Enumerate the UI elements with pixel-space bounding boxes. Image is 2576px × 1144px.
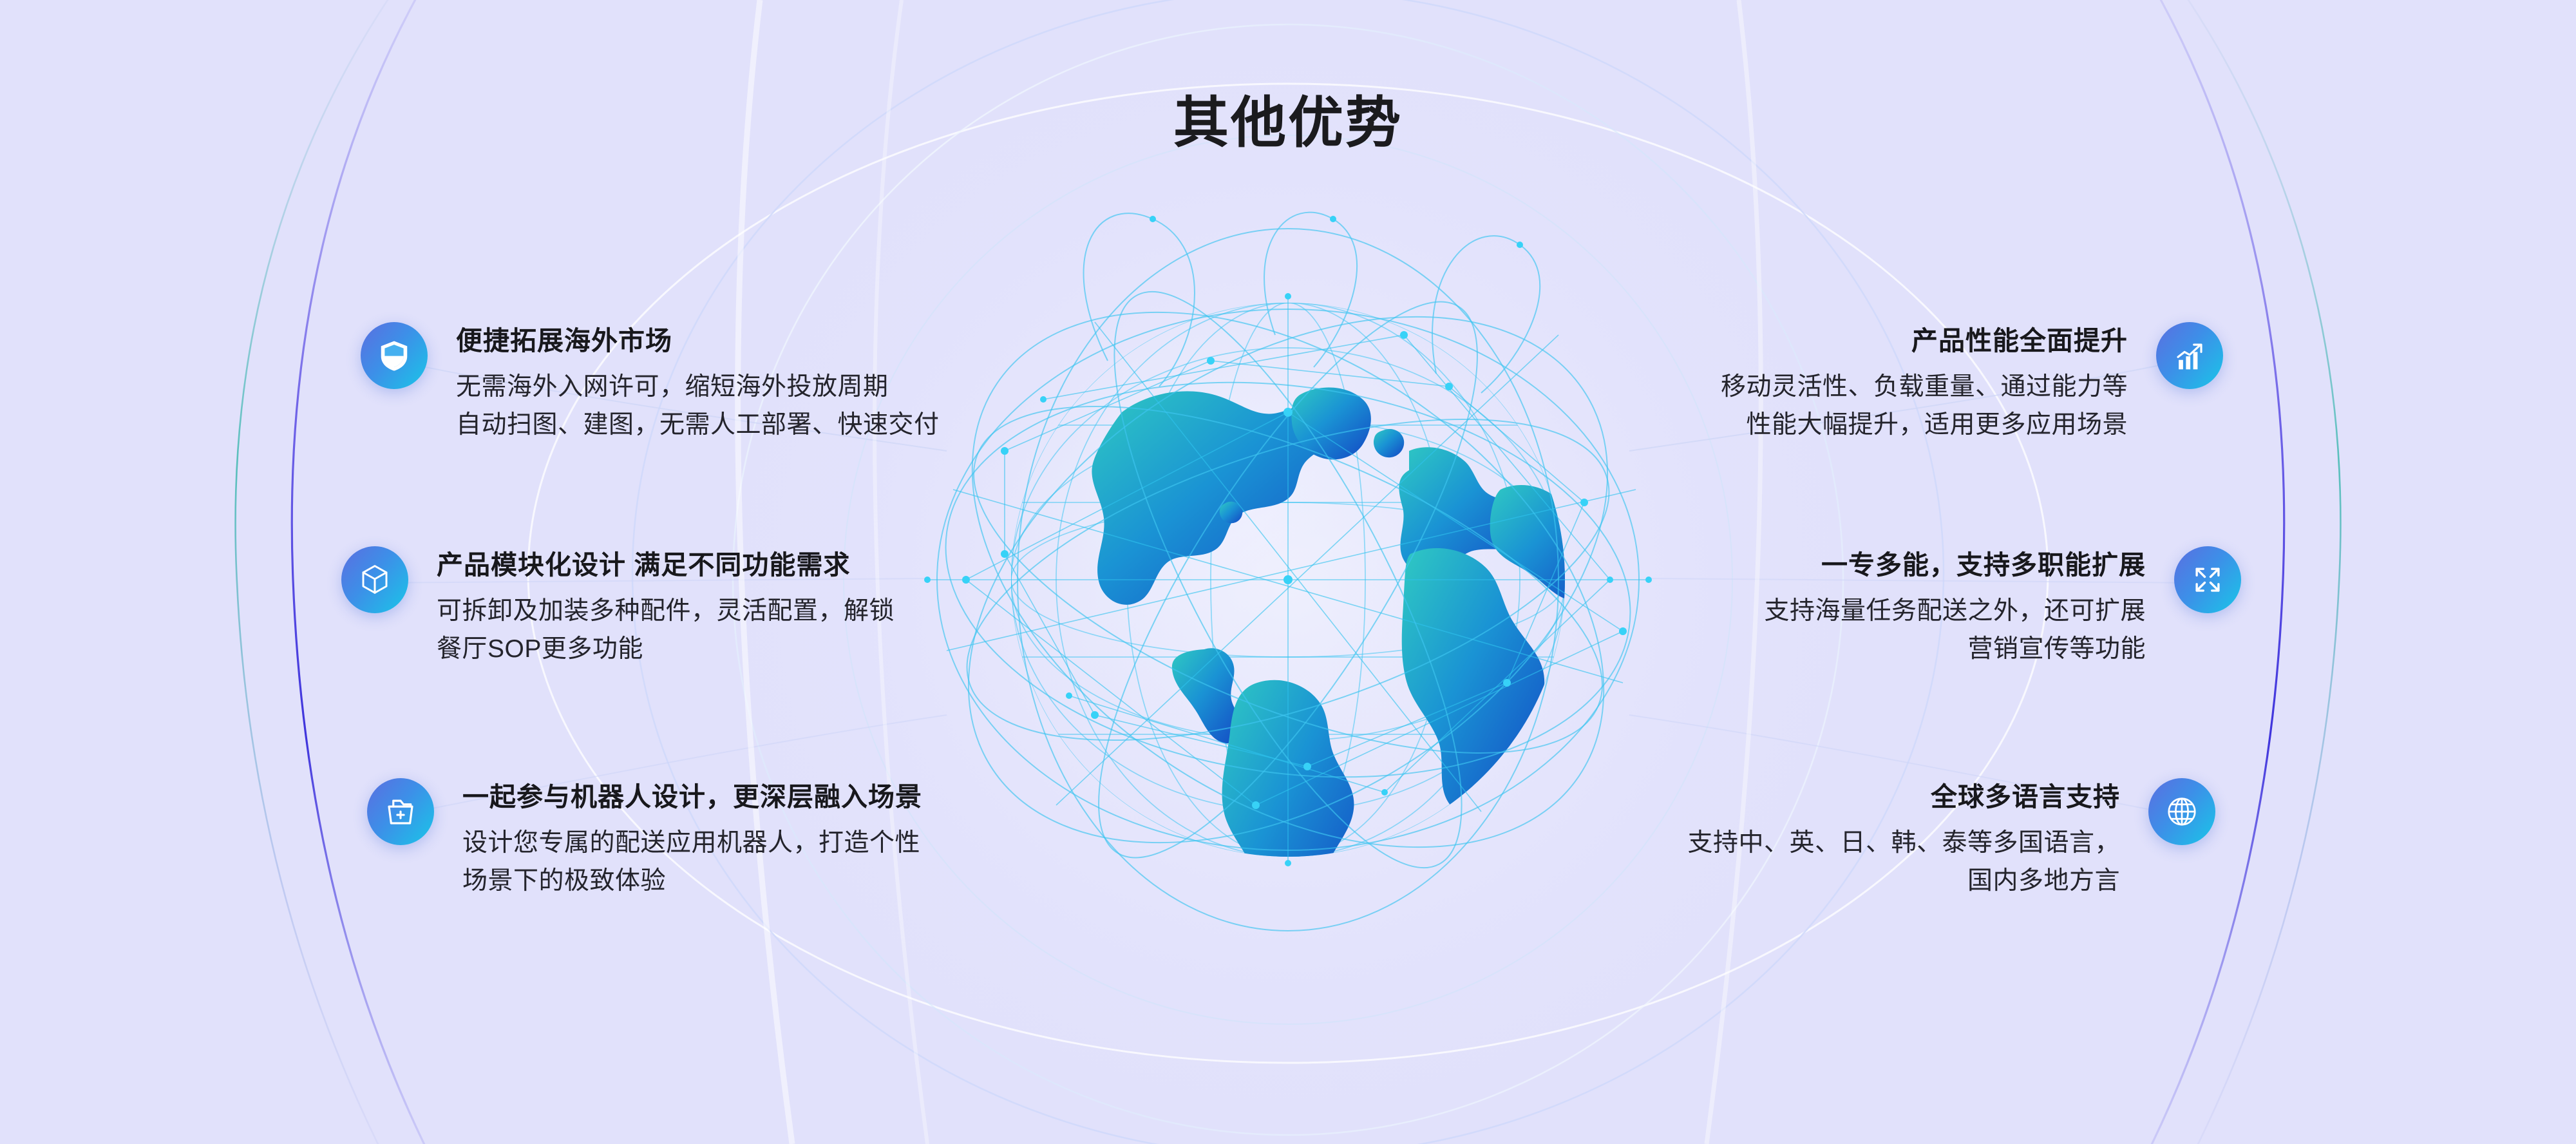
feature-line: 营销宣传等功能 — [1764, 630, 2146, 668]
page-title: 其他优势 — [0, 95, 2576, 151]
expand-arrows-icon — [2174, 546, 2241, 613]
feature-text: 一专多能，支持多职能扩展 支持海量任务配送之外，还可扩展 营销宣传等功能 — [1764, 546, 2146, 669]
feature-heading: 产品模块化设计 满足不同功能需求 — [437, 550, 895, 580]
feature-heading: 一专多能，支持多职能扩展 — [1764, 550, 2146, 580]
feature-line: 国内多地方言 — [1687, 862, 2120, 900]
feature-heading: 一起参与机器人设计，更深层融入场景 — [462, 782, 922, 812]
feature-line: 无需海外入网许可，缩短海外投放周期 — [456, 368, 940, 406]
feature-line: 餐厅SOP更多功能 — [437, 630, 895, 668]
feature-line: 场景下的极致体验 — [462, 862, 922, 900]
feature-heading: 便捷拓展海外市场 — [456, 326, 940, 356]
feature-line: 移动灵活性、负载重量、通过能力等 — [1721, 368, 2128, 406]
advantages-section: 其他优势 便捷拓展海外市场 无需海外入网许可，缩短海外投放周期 自动扫图、建图，… — [0, 0, 2576, 1144]
feature-line: 支持中、英、日、韩、泰等多国语言， — [1687, 824, 2120, 862]
bar-chart-up-icon — [2156, 322, 2223, 389]
cube-icon — [341, 546, 408, 613]
globe-icon — [2148, 778, 2215, 845]
feature-item-left-3[interactable]: 一起参与机器人设计，更深层融入场景 设计您专属的配送应用机器人，打造个性 场景下… — [367, 778, 922, 901]
feature-heading: 全球多语言支持 — [1687, 782, 2120, 812]
feature-line: 性能大幅提升，适用更多应用场景 — [1721, 406, 2128, 444]
feature-line: 设计您专属的配送应用机器人，打造个性 — [462, 824, 922, 862]
feature-item-left-2[interactable]: 产品模块化设计 满足不同功能需求 可拆卸及加装多种配件，灵活配置，解锁 餐厅SO… — [341, 546, 895, 669]
feature-line: 支持海量任务配送之外，还可扩展 — [1764, 592, 2146, 630]
feature-text: 全球多语言支持 支持中、英、日、韩、泰等多国语言， 国内多地方言 — [1687, 778, 2120, 901]
feature-text: 一起参与机器人设计，更深层融入场景 设计您专属的配送应用机器人，打造个性 场景下… — [462, 778, 922, 901]
feature-text: 产品性能全面提升 移动灵活性、负载重量、通过能力等 性能大幅提升，适用更多应用场… — [1721, 322, 2128, 444]
feature-item-right-1[interactable]: 产品性能全面提升 移动灵活性、负载重量、通过能力等 性能大幅提升，适用更多应用场… — [1721, 322, 2223, 444]
feature-item-right-3[interactable]: 全球多语言支持 支持中、英、日、韩、泰等多国语言， 国内多地方言 — [1687, 778, 2215, 901]
feature-text: 产品模块化设计 满足不同功能需求 可拆卸及加装多种配件，灵活配置，解锁 餐厅SO… — [437, 546, 895, 669]
feature-text: 便捷拓展海外市场 无需海外入网许可，缩短海外投放周期 自动扫图、建图，无需人工部… — [456, 322, 940, 444]
add-folder-icon — [367, 778, 434, 845]
shield-icon — [361, 322, 428, 389]
feature-item-right-2[interactable]: 一专多能，支持多职能扩展 支持海量任务配送之外，还可扩展 营销宣传等功能 — [1764, 546, 2241, 669]
feature-heading: 产品性能全面提升 — [1721, 326, 2128, 356]
feature-line: 可拆卸及加装多种配件，灵活配置，解锁 — [437, 592, 895, 630]
feature-item-left-1[interactable]: 便捷拓展海外市场 无需海外入网许可，缩短海外投放周期 自动扫图、建图，无需人工部… — [361, 322, 940, 444]
feature-line: 自动扫图、建图，无需人工部署、快速交付 — [456, 406, 940, 444]
